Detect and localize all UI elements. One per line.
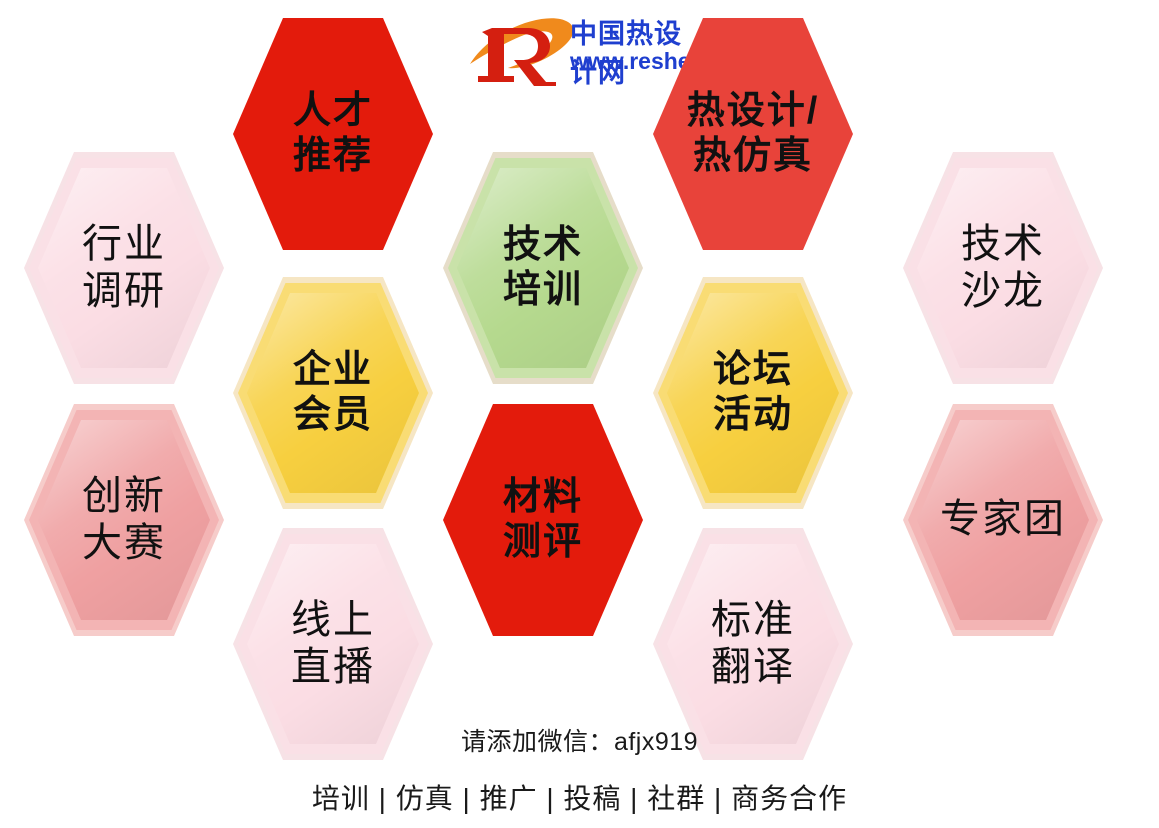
- wechat-contact-line: 请添加微信：afjx919: [0, 722, 1159, 758]
- hex-label: 专家团: [903, 404, 1103, 636]
- hex-talent-recommendation[interactable]: 人才 推荐: [233, 18, 433, 250]
- hex-label: 行业 调研: [24, 152, 224, 384]
- hex-tech-salon[interactable]: 技术 沙龙: [903, 152, 1103, 384]
- hex-material-evaluation[interactable]: 材料 测评: [443, 404, 643, 636]
- hex-thermal-design[interactable]: 热设计/ 热仿真: [653, 18, 853, 250]
- hex-label: 论坛 活动: [653, 277, 853, 509]
- hex-industry-research[interactable]: 行业 调研: [24, 152, 224, 384]
- hex-innovation-contest[interactable]: 创新 大赛: [24, 404, 224, 636]
- hex-corporate-membership[interactable]: 企业 会员: [233, 277, 433, 509]
- hex-expert-team[interactable]: 专家团: [903, 404, 1103, 636]
- hex-label: 热设计/ 热仿真: [653, 18, 853, 250]
- hex-label: 技术 沙龙: [903, 152, 1103, 384]
- hex-label: 材料 测评: [443, 404, 643, 636]
- poster-canvas: 中国热设计网 www.resheji.com 人才 推荐热设计/ 热仿真行业 调…: [0, 0, 1159, 828]
- hex-label: 人才 推荐: [233, 18, 433, 250]
- hex-label: 创新 大赛: [24, 404, 224, 636]
- hex-forum-activity[interactable]: 论坛 活动: [653, 277, 853, 509]
- service-tags-line: 培训 | 仿真 | 推广 | 投稿 | 社群 | 商务合作: [0, 777, 1159, 817]
- hex-label: 技术 培训: [443, 152, 643, 384]
- hex-label: 企业 会员: [233, 277, 433, 509]
- hex-tech-training[interactable]: 技术 培训: [443, 152, 643, 384]
